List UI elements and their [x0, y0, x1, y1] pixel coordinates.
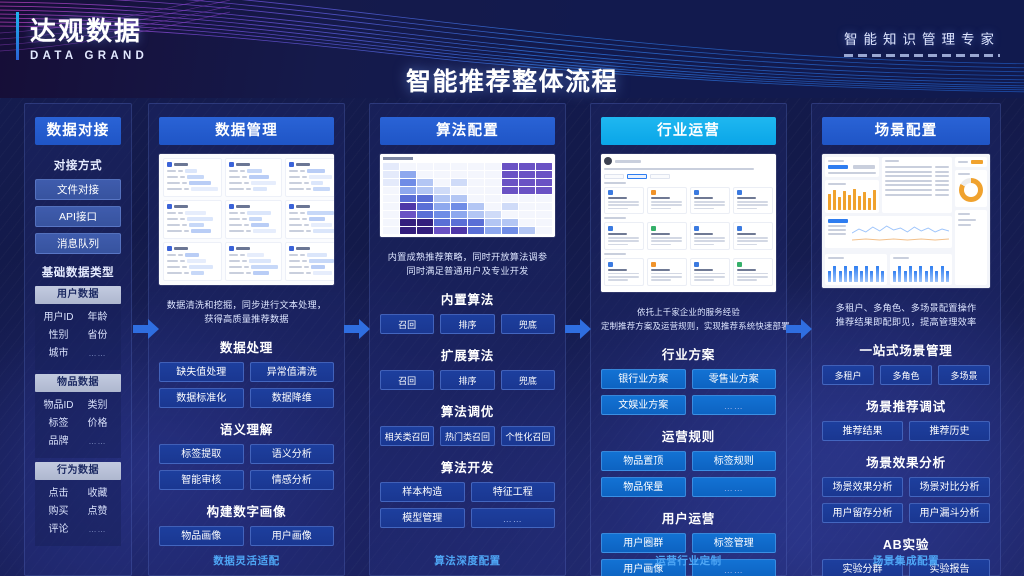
chip-row: 用户留存分析用户漏斗分析 [822, 503, 990, 523]
feature-chip[interactable]: 物品置顶 [601, 451, 686, 471]
feature-chip[interactable]: 标签管理 [692, 533, 777, 553]
heatmap-cell [451, 219, 467, 226]
heatmap-cell [502, 195, 518, 202]
heatmap-cell [468, 187, 484, 194]
heatmap-cell [417, 219, 433, 226]
column-caption-line: 推荐结果即配即见，提高管理效率 [822, 315, 990, 329]
flow-column-algorithm-config: 算法配置内置成熟推荐策略，同时开放算法调参同时满足普通用户及专业开发内置算法召回… [369, 103, 566, 576]
heatmap-cell [400, 211, 416, 218]
feature-chip[interactable]: 情感分析 [250, 470, 335, 490]
feature-chip[interactable]: 智能审核 [159, 470, 244, 490]
heatmap-cell [434, 227, 450, 234]
heatmap-cell [536, 203, 552, 210]
heatmap-cell [434, 211, 450, 218]
solution-card [647, 187, 687, 215]
heatmap-cell [502, 163, 518, 170]
heatmap-cell [502, 203, 518, 210]
chip-row: 模型管理…… [380, 508, 555, 528]
data-type-group-header[interactable]: 行为数据 [35, 462, 121, 480]
page-title: 智能推荐整体流程 [0, 62, 1024, 98]
heatmap-cell [502, 227, 518, 234]
feature-chip[interactable]: 用户画像 [250, 526, 335, 546]
tagline-text: 智能知识管理专家 [844, 28, 1000, 48]
chip-row: 召回排序兜底 [380, 370, 555, 390]
column-header-industry-operation[interactable]: 行业运营 [601, 117, 776, 145]
heatmap-cell [400, 179, 416, 186]
feature-chip[interactable]: 推荐结果 [822, 421, 903, 441]
group-title: 数据处理 [159, 337, 334, 356]
feature-chip[interactable]: 排序 [440, 370, 494, 390]
thumb-tile [225, 158, 282, 197]
heatmap-cell [519, 219, 535, 226]
heatmap-cell [383, 187, 399, 194]
group-title: 行业方案 [601, 344, 776, 363]
brand-accent-bar [16, 12, 19, 60]
heatmap-cell [434, 219, 450, 226]
chip-row: 银行业方案零售业方案 [601, 369, 776, 389]
data-field-label: 收藏 [80, 486, 115, 502]
tagline: 智能知识管理专家 [844, 28, 1000, 57]
section-title-data-types: 基础数据类型 [35, 264, 121, 280]
heatmap-cell [383, 163, 399, 170]
heatmap-cell [502, 179, 518, 186]
heatmap-cell [383, 211, 399, 218]
data-field-label: 省份 [80, 328, 115, 344]
chip-row: 缺失值处理异常值清洗 [159, 362, 334, 382]
feature-chip[interactable]: 个性化召回 [501, 426, 555, 446]
heatmap-cell [468, 179, 484, 186]
heatmap-cell [485, 203, 501, 210]
feature-chip[interactable]: 数据标准化 [159, 388, 244, 408]
feature-chip[interactable]: 排序 [440, 314, 494, 334]
solution-card [690, 222, 730, 250]
heatmap-cell [502, 219, 518, 226]
column-footer-tag: 场景集成配置 [812, 553, 1000, 568]
group-title: 算法调优 [380, 401, 555, 420]
docking-option-button[interactable]: 文件对接 [35, 179, 121, 200]
heatmap-cell [400, 219, 416, 226]
section-title: 对接方式 [35, 157, 121, 173]
data-field-label: 物品ID [41, 398, 76, 414]
solution-card [690, 258, 730, 286]
data-field-label: 点赞 [80, 504, 115, 520]
feature-chip[interactable]: 场景对比分析 [909, 477, 990, 497]
column-footer-tag: 运营行业定制 [591, 553, 786, 568]
feature-chip[interactable]: 兜底 [501, 314, 555, 334]
chip-row: 相关类召回热门类召回个性化召回 [380, 426, 555, 446]
heatmap-cell [485, 195, 501, 202]
column-caption-line: 定制推荐方案及运营规则，实现推荐系统快速部署 [601, 319, 776, 333]
flow-diagram: 数据对接对接方式文件对接API接口消息队列基础数据类型用户数据用户ID年龄性别省… [0, 103, 1024, 576]
chip-row: 物品保量…… [601, 477, 776, 497]
heatmap-cell [383, 227, 399, 234]
heatmap-cell [434, 171, 450, 178]
heatmap-cell [536, 163, 552, 170]
arrow-right-icon [133, 318, 159, 340]
chip-row: 智能审核情感分析 [159, 470, 334, 490]
brand-logo: 达观数据 DATA GRAND [30, 16, 148, 64]
arrow-right-icon [786, 318, 812, 340]
thumb-tile [285, 200, 334, 239]
heatmap-cell [468, 211, 484, 218]
feature-chip[interactable]: 相关类召回 [380, 426, 434, 446]
chip-row: 场景效果分析场景对比分析 [822, 477, 990, 497]
heatmap-cell [519, 171, 535, 178]
column-caption-line: 获得高质量推荐数据 [159, 312, 334, 326]
solution-card [604, 222, 644, 250]
column-header-data-management[interactable]: 数据管理 [159, 117, 334, 145]
feature-chip[interactable]: 召回 [380, 314, 434, 334]
heatmap-cell [400, 195, 416, 202]
data-field-label: 品牌 [41, 434, 76, 450]
solution-card [604, 187, 644, 215]
data-field-label: 购买 [41, 504, 76, 520]
heatmap-cell [383, 219, 399, 226]
data-field-label: 价格 [80, 416, 115, 432]
heatmap-cell [468, 203, 484, 210]
brand-name-cn: 达观数据 [30, 16, 148, 46]
data-field-label: …… [80, 522, 115, 538]
group-title: 用户运营 [601, 508, 776, 527]
heatmap-cell [519, 195, 535, 202]
heatmap-cell [536, 219, 552, 226]
heatmap-cell [519, 163, 535, 170]
feature-chip[interactable]: 样本构造 [380, 482, 465, 502]
data-field-label: 标签 [41, 416, 76, 432]
feature-chip[interactable]: 标签规则 [692, 451, 777, 471]
data-type-group-header[interactable]: 物品数据 [35, 374, 121, 392]
column-caption-line: 内置成熟推荐策略，同时开放算法调参 [380, 250, 555, 264]
heatmap-cell [502, 171, 518, 178]
feature-chip[interactable]: …… [692, 477, 777, 497]
group-title: 语义理解 [159, 419, 334, 438]
heatmap-cell [485, 171, 501, 178]
column-footer-tag: 算法深度配置 [370, 553, 565, 568]
heatmap-cell [468, 163, 484, 170]
data-field-label: 年龄 [80, 310, 115, 326]
feature-chip[interactable]: 兜底 [501, 370, 555, 390]
heatmap-cell [400, 227, 416, 234]
data-field-label: 类别 [80, 398, 115, 414]
product-screenshot-algorithm-config [380, 154, 555, 237]
heatmap-cell [485, 219, 501, 226]
heatmap-cell [519, 227, 535, 234]
feature-chip[interactable]: 推荐历史 [909, 421, 990, 441]
heatmap-cell [383, 179, 399, 186]
data-field-label: …… [80, 346, 115, 362]
heatmap-cell [519, 203, 535, 210]
group-title: 一站式场景管理 [822, 340, 990, 359]
product-screenshot-industry-operation [601, 154, 776, 292]
heatmap-cell [451, 195, 467, 202]
heatmap-cell [417, 211, 433, 218]
heatmap-cell [485, 211, 501, 218]
feature-chip[interactable]: 多租户 [822, 365, 874, 385]
thumb-tile [163, 158, 222, 197]
heatmap-cell [502, 211, 518, 218]
group-title: 构建数字画像 [159, 501, 334, 520]
column-header-scene-config[interactable]: 场景配置 [822, 117, 990, 145]
screenshot-data-tiles [159, 154, 334, 285]
feature-chip[interactable]: 用户留存分析 [822, 503, 903, 523]
heatmap-cell [468, 219, 484, 226]
docking-option-button[interactable]: 消息队列 [35, 233, 121, 254]
group-title: 内置算法 [380, 289, 555, 308]
thumb-tile [285, 158, 334, 197]
heatmap-cell [434, 163, 450, 170]
heatmap-cell [536, 227, 552, 234]
feature-chip[interactable]: 文娱业方案 [601, 395, 686, 415]
data-field-label: 性别 [41, 328, 76, 344]
group-title: AB实验 [822, 534, 990, 553]
chip-row: 标签提取语义分析 [159, 444, 334, 464]
heatmap-cell [468, 227, 484, 234]
docking-option-button[interactable]: API接口 [35, 206, 121, 227]
heatmap-cell [485, 163, 501, 170]
thumb-tile [225, 242, 282, 281]
chip-row: 数据标准化数据降维 [159, 388, 334, 408]
solution-card [647, 222, 687, 250]
feature-chip[interactable]: 多场景 [938, 365, 990, 385]
flow-column-industry-operation: 行业运营依托上千家企业的服务经验定制推荐方案及运营规则，实现推荐系统快速部署行业… [590, 103, 787, 576]
product-screenshot-scene-config [822, 154, 990, 288]
feature-chip[interactable]: …… [471, 508, 556, 528]
chip-row: 文娱业方案…… [601, 395, 776, 415]
heatmap-cell [519, 187, 535, 194]
feature-chip[interactable]: 缺失值处理 [159, 362, 244, 382]
heatmap-cell [519, 211, 535, 218]
screenshot-algorithm-heatmap [380, 154, 555, 237]
heatmap-cell [451, 211, 467, 218]
column-caption-line: 依托上千家企业的服务经验 [601, 305, 776, 319]
heatmap-cell [434, 195, 450, 202]
group-title: 场景推荐调试 [822, 396, 990, 415]
column-caption-line: 多租户、多角色、多场景配置操作 [822, 301, 990, 315]
heatmap-cell [417, 203, 433, 210]
flow-column-data-management: 数据管理数据清洗和挖掘，同步进行文本处理，获得高质量推荐数据数据处理缺失值处理异… [148, 103, 345, 576]
feature-chip[interactable]: 特征工程 [471, 482, 556, 502]
heatmap-cell [519, 179, 535, 186]
heatmap-cell [485, 227, 501, 234]
feature-chip[interactable]: 多角色 [880, 365, 932, 385]
heatmap-cell [434, 203, 450, 210]
feature-chip[interactable]: 异常值清洗 [250, 362, 335, 382]
feature-chip[interactable]: 物品画像 [159, 526, 244, 546]
thumb-tile [225, 200, 282, 239]
solution-card [604, 258, 644, 286]
chip-row: 物品置顶标签规则 [601, 451, 776, 471]
solution-card [690, 187, 730, 215]
heatmap-cell [451, 179, 467, 186]
data-field-label: 评论 [41, 522, 76, 538]
chip-row: 推荐结果推荐历史 [822, 421, 990, 441]
feature-chip[interactable]: 模型管理 [380, 508, 465, 528]
column-caption-line: 同时满足普通用户及专业开发 [380, 264, 555, 278]
data-field-label: …… [80, 434, 115, 450]
heatmap-cell [451, 227, 467, 234]
thumb-tile [163, 242, 222, 281]
heatmap-cell [485, 179, 501, 186]
heatmap-cell [400, 163, 416, 170]
chip-row: 物品画像用户画像 [159, 526, 334, 546]
flow-column-scene-config: 场景配置多租户、多角色、多场景配置操作推荐结果即配即见，提高管理效率一站式场景管… [811, 103, 1001, 576]
heatmap-cell [434, 179, 450, 186]
group-title: 算法开发 [380, 457, 555, 476]
screenshot-industry-solutions [601, 154, 776, 292]
feature-chip[interactable]: 召回 [380, 370, 434, 390]
feature-chip[interactable]: …… [692, 395, 777, 415]
feature-chip[interactable]: 场景效果分析 [822, 477, 903, 497]
data-field-label: 城市 [41, 346, 76, 362]
heatmap-cell [417, 195, 433, 202]
heatmap-cell [400, 171, 416, 178]
column-caption-line: 数据清洗和挖掘，同步进行文本处理， [159, 298, 334, 312]
product-screenshot-data-management [159, 154, 334, 285]
feature-chip[interactable]: 数据降维 [250, 388, 335, 408]
data-type-group-header[interactable]: 用户数据 [35, 286, 121, 304]
group-title: 场景效果分析 [822, 452, 990, 471]
heatmap-cell [536, 187, 552, 194]
data-type-group: 用户数据用户ID年龄性别省份城市…… [35, 286, 121, 370]
chip-row: 多租户多角色多场景 [822, 365, 990, 385]
heatmap-cell [468, 171, 484, 178]
heatmap-cell [451, 171, 467, 178]
column-footer-tag: 数据灵活适配 [149, 553, 344, 568]
feature-chip[interactable]: 银行业方案 [601, 369, 686, 389]
feature-chip[interactable]: 用户圈群 [601, 533, 686, 553]
column-header-data-docking[interactable]: 数据对接 [35, 117, 121, 145]
feature-chip[interactable]: 用户漏斗分析 [909, 503, 990, 523]
chip-row: 召回排序兜底 [380, 314, 555, 334]
heatmap-cell [536, 179, 552, 186]
feature-chip[interactable]: 热门类召回 [440, 426, 494, 446]
group-title: 扩展算法 [380, 345, 555, 364]
heatmap-cell [434, 187, 450, 194]
heatmap-cell [485, 187, 501, 194]
flow-column-data-docking: 数据对接对接方式文件对接API接口消息队列基础数据类型用户数据用户ID年龄性别省… [24, 103, 132, 576]
solution-card [733, 222, 773, 250]
solution-card [733, 187, 773, 215]
arrow-right-icon [565, 318, 591, 340]
solution-card [647, 258, 687, 286]
heatmap-cell [417, 187, 433, 194]
heatmap-cell [400, 203, 416, 210]
heatmap-cell [417, 179, 433, 186]
heatmap-cell [383, 171, 399, 178]
feature-chip[interactable]: 语义分析 [250, 444, 335, 464]
heatmap-cell [383, 195, 399, 202]
heatmap-cell [451, 187, 467, 194]
group-title: 运营规则 [601, 426, 776, 445]
thumb-tile [285, 242, 334, 281]
heatmap-cell [468, 195, 484, 202]
chip-row: 样本构造特征工程 [380, 482, 555, 502]
data-type-group: 物品数据物品ID类别标签价格品牌…… [35, 374, 121, 458]
thumb-tile [163, 200, 222, 239]
heatmap-cell [451, 203, 467, 210]
column-header-algorithm-config[interactable]: 算法配置 [380, 117, 555, 145]
heatmap-cell [502, 187, 518, 194]
chip-row: 用户圈群标签管理 [601, 533, 776, 553]
screenshot-scene-dashboard [822, 154, 990, 288]
feature-chip[interactable]: 零售业方案 [692, 369, 777, 389]
arrow-right-icon [344, 318, 370, 340]
heatmap-cell [400, 187, 416, 194]
heatmap-cell [536, 171, 552, 178]
solution-card [733, 258, 773, 286]
tagline-dash-rule [844, 54, 1000, 57]
data-field-label: 点击 [41, 486, 76, 502]
data-field-label: 用户ID [41, 310, 76, 326]
heatmap-cell [417, 171, 433, 178]
heatmap-cell [383, 203, 399, 210]
heatmap-cell [417, 227, 433, 234]
feature-chip[interactable]: 物品保量 [601, 477, 686, 497]
heatmap-cell [536, 211, 552, 218]
heatmap-cell [451, 163, 467, 170]
data-type-group: 行为数据点击收藏购买点赞评论…… [35, 462, 121, 546]
heatmap-cell [536, 195, 552, 202]
feature-chip[interactable]: 标签提取 [159, 444, 244, 464]
heatmap-cell [417, 163, 433, 170]
